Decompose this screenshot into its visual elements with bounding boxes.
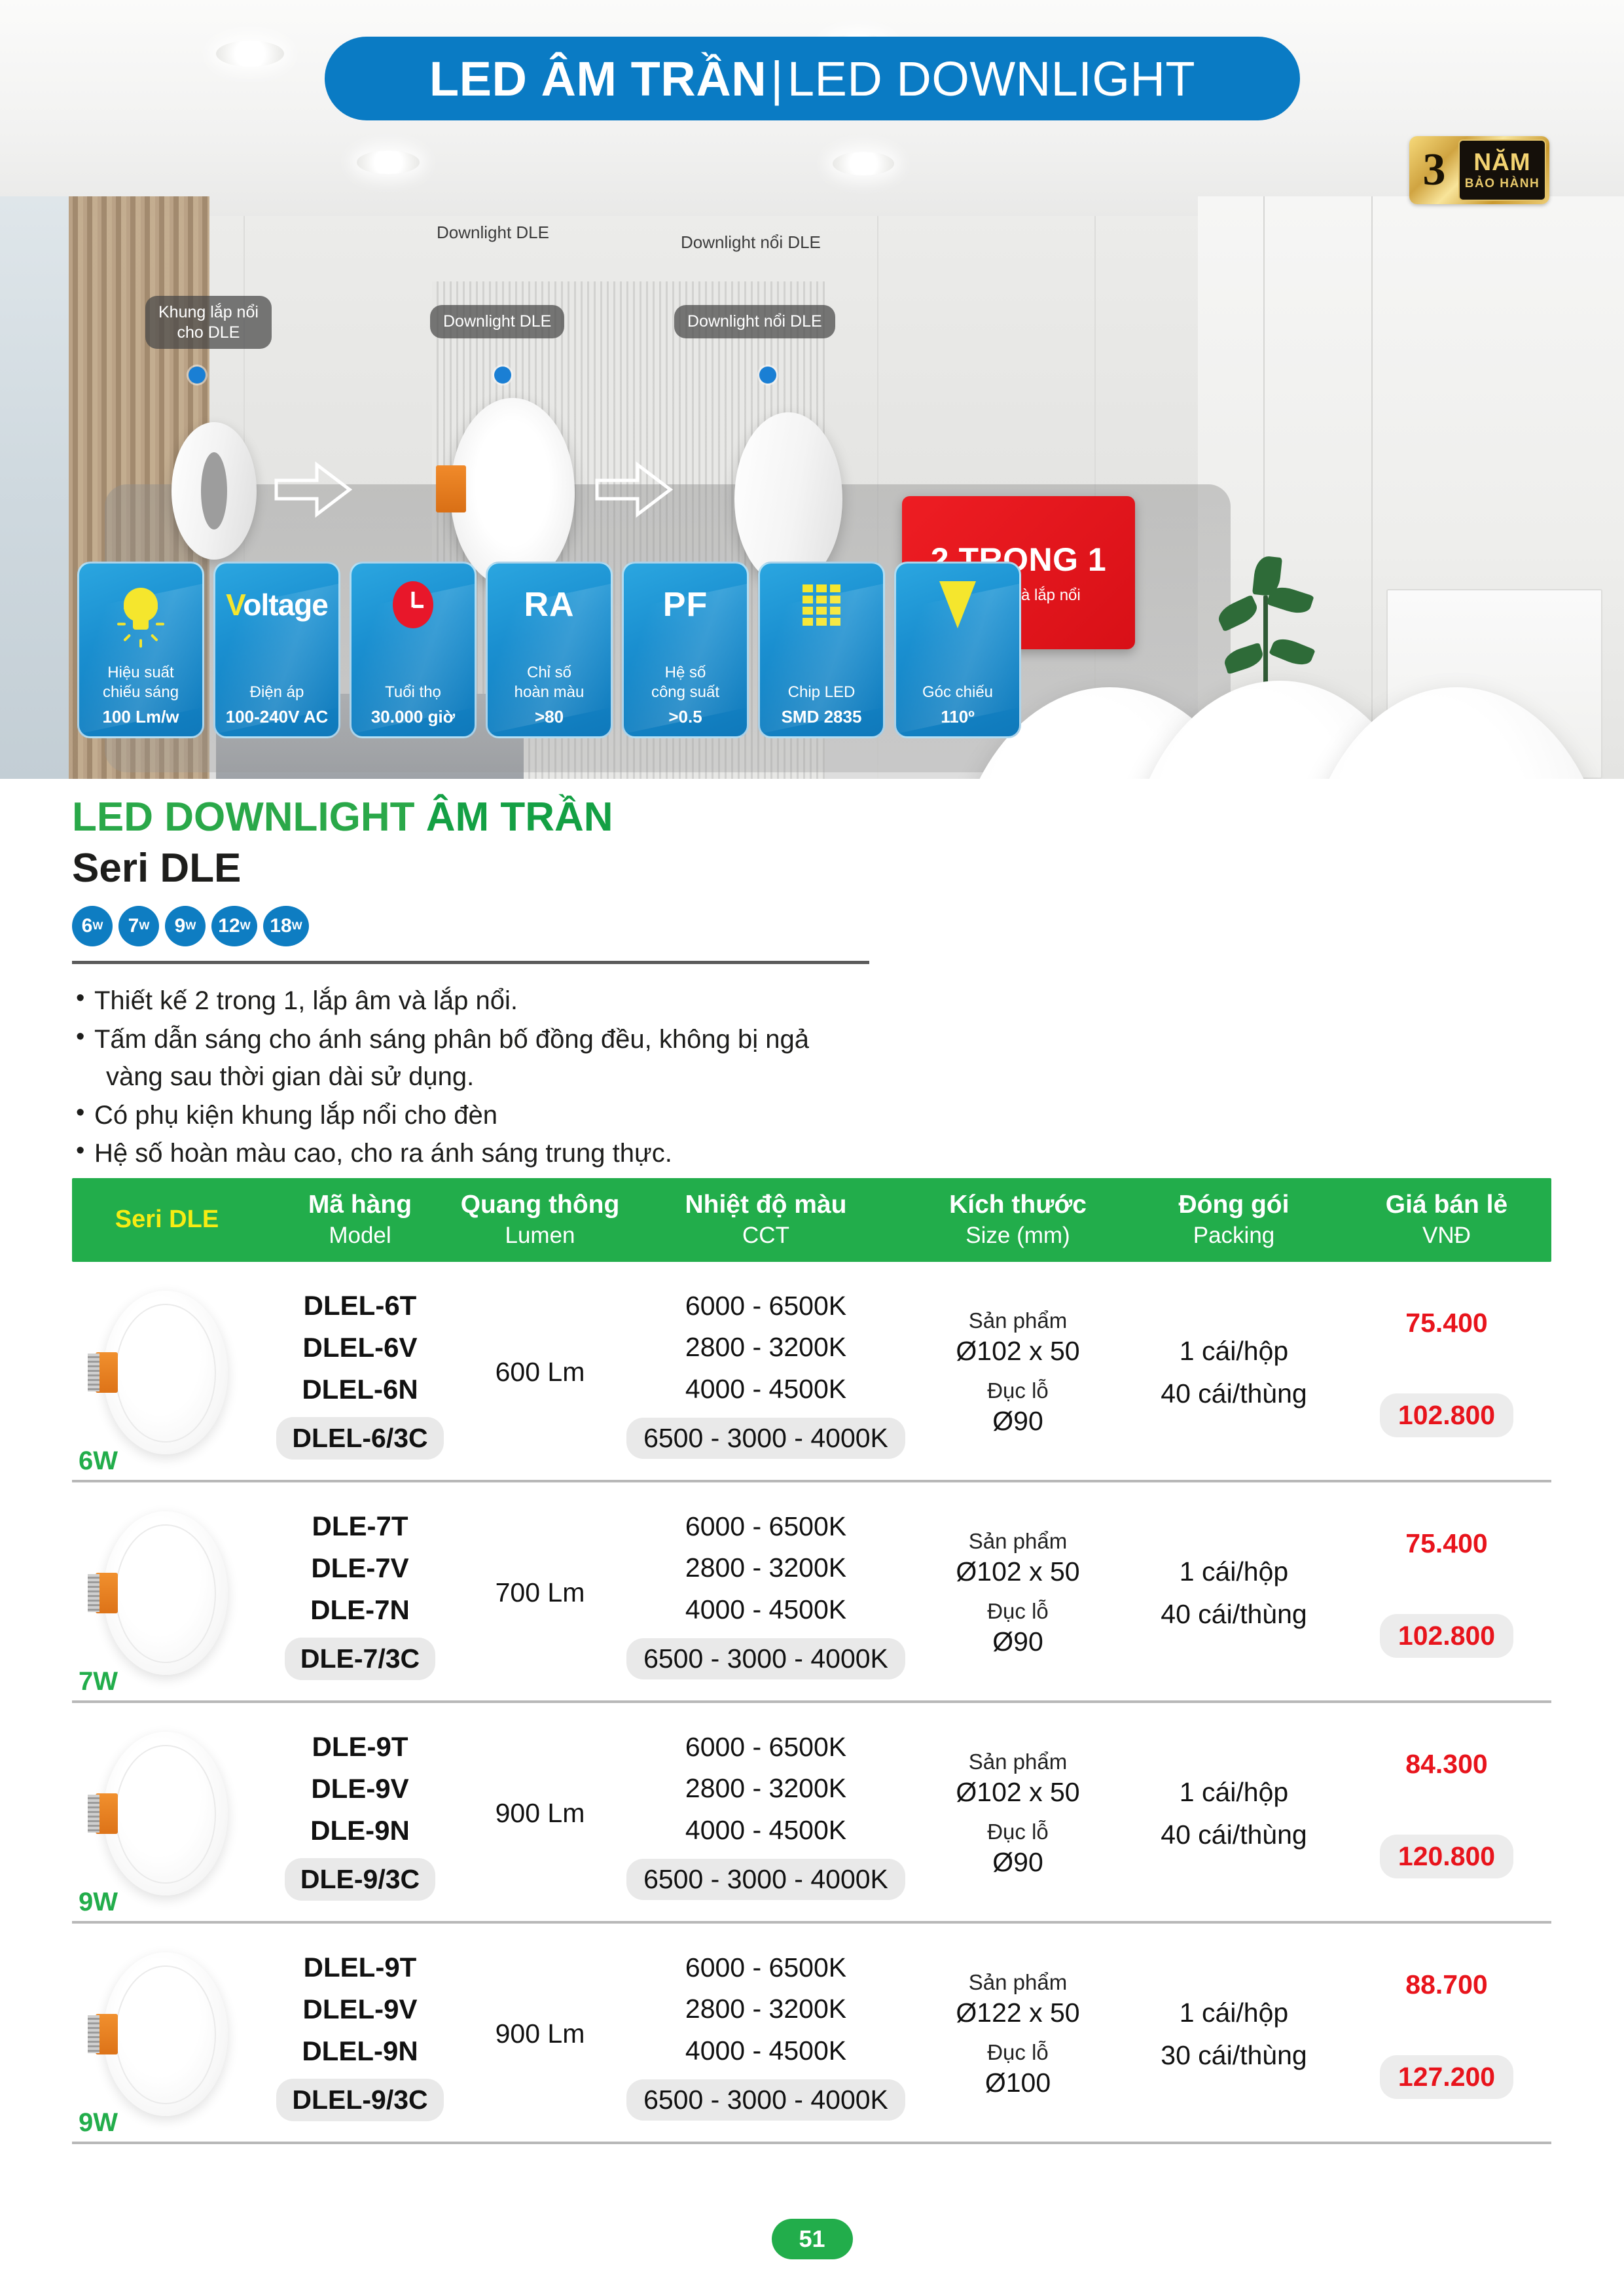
downlight-disc (103, 1291, 228, 1454)
cct-value: 4000 - 4500K (622, 2030, 910, 2072)
model-code-3c-badge: DLE-7/3C (285, 1638, 435, 1680)
spec-label-line1: Góc chiếu (922, 683, 993, 701)
table-row: 7W DLE-7T DLE-7V DLE-7N DLE-7/3C 700 Lm … (72, 1482, 1551, 1703)
wattage-value: 18 (270, 915, 291, 937)
column-header-title: Nhiệt độ màu (622, 1191, 910, 1219)
wattage-badge-7w: 7W (118, 906, 159, 946)
row-price-cell: 75.400 102.800 (1342, 1308, 1551, 1437)
marker-dot-1 (189, 367, 206, 384)
callout-line1: Khung lắp nổi (158, 303, 259, 321)
marker-dot-3 (759, 367, 776, 384)
price-3c-badge: 120.800 (1380, 1835, 1513, 1878)
wattage-badge-6w: 6W (72, 906, 113, 946)
column-header-title: Đóng gói (1126, 1191, 1342, 1219)
spring-clip (436, 465, 466, 512)
wattage-value: 9 (175, 915, 186, 937)
model-code: DLEL-6N (262, 1369, 458, 1410)
price-3c-badge: 102.800 (1380, 1393, 1513, 1437)
wattage-badge-12w: 12W (211, 906, 257, 946)
row-product-image (85, 1505, 249, 1681)
list-item: Có phụ kiện khung lắp nổi cho đèn (72, 1097, 923, 1134)
row-size-cell: Sản phẩm Ø102 x 50 Đục lỗ Ø90 (910, 1308, 1126, 1437)
wattage-unit: W (139, 920, 149, 933)
column-header-price: Giá bán lẻ VNĐ (1342, 1191, 1551, 1249)
page-number-badge: 51 (772, 2219, 853, 2259)
row-models-cell: DLEL-6T DLEL-6V DLEL-6N DLEL-6/3C (262, 1285, 458, 1459)
row-product-cell: 6W (72, 1284, 262, 1461)
packing-per-carton: 40 cái/thùng (1126, 1814, 1342, 1856)
spec-card-power-factor: PF Hệ số công suất >0.5 (622, 562, 749, 738)
product-spec-table: Seri DLE Mã hàng Model Quang thông Lumen… (72, 1178, 1551, 2144)
bulb-rays (111, 575, 171, 635)
size-value-product: Ø102 x 50 (910, 1556, 1126, 1587)
row-packing-cell: 1 cái/hộp 40 cái/thùng (1126, 1551, 1342, 1636)
wattage-value: 12 (218, 915, 240, 937)
size-label-cutout: Đục lỗ (910, 2040, 1126, 2065)
row-packing-cell: 1 cái/hộp 40 cái/thùng (1126, 1330, 1342, 1415)
row-wattage-badge: 9W (79, 2108, 118, 2138)
row-cct-cell: 6000 - 6500K 2800 - 3200K 4000 - 4500K 6… (622, 1506, 910, 1680)
spec-label-line1: Chỉ số (527, 664, 571, 681)
lumen-value: 900 Lm (458, 1798, 622, 1829)
column-header-subtitle: Size (mm) (910, 1223, 1126, 1249)
catalog-page: Downlight DLE Downlight nổi DLE Khung lắ… (0, 0, 1624, 2296)
spec-card-lifetime: Tuổi thọ 30.000 giờ (350, 562, 477, 738)
warranty-box: NĂM BẢO HÀNH (1458, 139, 1546, 201)
row-wattage-badge: 7W (79, 1667, 118, 1696)
lumen-value: 900 Lm (458, 2018, 622, 2049)
row-size-cell: Sản phẩm Ø102 x 50 Đục lỗ Ø90 (910, 1529, 1126, 1657)
spec-label: Điện áp (250, 683, 304, 702)
row-models-cell: DLE-9T DLE-9V DLE-9N DLE-9/3C (262, 1726, 458, 1900)
page-title-banner: LED ÂM TRẦN|LED DOWNLIGHT (325, 37, 1300, 120)
cct-value: 4000 - 4500K (622, 1589, 910, 1631)
plant-leaf (1269, 634, 1315, 670)
spring-coil-icon (88, 1574, 99, 1612)
product-title-b: ÂM TRẦN (426, 795, 613, 840)
spec-label-line2: chiếu sáng (103, 683, 179, 701)
column-header-title: Kích thước (910, 1191, 1126, 1219)
column-header-packing: Đóng gói Packing (1126, 1191, 1342, 1249)
bullet-text-cont: vàng sau thời gian dài sử dụng. (94, 1058, 923, 1096)
ra-glyph: RA (524, 585, 574, 624)
table-row: 6W DLEL-6T DLEL-6V DLEL-6N DLEL-6/3C 600… (72, 1262, 1551, 1482)
beam-glyph (939, 581, 976, 628)
spec-card-chip-led: Chip LED SMD 2835 (758, 562, 885, 738)
bullet-text: Tấm dẫn sáng cho ánh sáng phân bố đồng đ… (94, 1025, 809, 1054)
cct-value: 2800 - 3200K (622, 1547, 910, 1589)
spec-label: Góc chiếu (922, 683, 993, 702)
model-code: DLEL-6V (262, 1327, 458, 1369)
plant-leaf (1222, 643, 1266, 675)
recessed-downlight-product (450, 398, 575, 588)
wattage-badge-18w: 18W (263, 906, 309, 946)
callout-downlight-noi-dle: Downlight nổi DLE (674, 305, 835, 338)
price-standard: 75.400 (1342, 1528, 1551, 1559)
size-label-product: Sản phẩm (910, 1308, 1126, 1333)
price-3c-badge: 102.800 (1380, 1614, 1513, 1658)
column-header-size: Kích thước Size (mm) (910, 1191, 1126, 1249)
spec-card-voltage: Voltage Điện áp 100-240V AC (213, 562, 340, 738)
model-code: DLEL-6T (262, 1285, 458, 1327)
spec-label: Hệ số công suất (651, 663, 719, 702)
spec-value: >80 (535, 707, 564, 727)
lumen-value: 700 Lm (458, 1577, 622, 1608)
spec-label-line1: Tuổi thọ (385, 683, 441, 701)
size-label-product: Sản phẩm (910, 1749, 1126, 1774)
cct-3c-badge: 6500 - 3000 - 4000K (626, 1638, 905, 1679)
wattage-unit: W (292, 920, 302, 933)
surface-downlight-product (734, 412, 842, 586)
spec-value: SMD 2835 (782, 707, 862, 727)
size-value-cutout: Ø90 (910, 1406, 1126, 1437)
packing-per-box: 1 cái/hộp (1126, 1330, 1342, 1372)
feature-bullet-list: Thiết kế 2 trong 1, lắp âm và lắp nổi. T… (72, 982, 923, 1172)
cct-3c-badge: 6500 - 3000 - 4000K (626, 1859, 905, 1900)
spec-label-line1: Chip LED (788, 683, 856, 701)
bullet-text: Có phụ kiện khung lắp nổi cho đèn (94, 1101, 497, 1130)
ceiling-light-3 (357, 151, 420, 174)
wattage-badge-9w: 9W (165, 906, 206, 946)
row-packing-cell: 1 cái/hộp 30 cái/thùng (1126, 1992, 1342, 2077)
row-product-cell: 9W (72, 1725, 262, 1902)
row-price-cell: 88.700 127.200 (1342, 1969, 1551, 2099)
cct-3c-badge: 6500 - 3000 - 4000K (626, 2079, 905, 2121)
spec-label-line1: Điện áp (250, 683, 304, 701)
wattage-unit: W (92, 920, 103, 933)
product-info-block: LED DOWNLIGHT ÂM TRẦN Seri DLE 6W 7W 9W … (72, 795, 923, 1174)
price-3c-badge: 127.200 (1380, 2055, 1513, 2099)
cct-value: 6000 - 6500K (622, 1727, 910, 1768)
model-code-3c-badge: DLEL-9/3C (276, 2079, 443, 2121)
column-header-subtitle: Model (262, 1223, 458, 1249)
voltage-glyph: Voltage (226, 587, 328, 622)
column-header-subtitle: Packing (1126, 1223, 1342, 1249)
pf-icon: PF (663, 578, 708, 632)
clock-icon (393, 578, 433, 632)
size-value-product: Ø102 x 50 (910, 1777, 1126, 1808)
model-code-3c-badge: DLE-9/3C (285, 1858, 435, 1901)
spec-value: >0.5 (668, 707, 702, 727)
ra-icon: RA (524, 578, 574, 632)
list-item: Thiết kế 2 trong 1, lắp âm và lắp nổi. (72, 982, 923, 1020)
packing-per-carton: 40 cái/thùng (1126, 1372, 1342, 1415)
row-wattage-badge: 9W (79, 1888, 118, 1917)
spec-card-beam-angle: Góc chiếu 110º (894, 562, 1021, 738)
warranty-badge: 3 NĂM BẢO HÀNH (1409, 136, 1549, 204)
cct-value: 6000 - 6500K (622, 1947, 910, 1989)
size-label-cutout: Đục lỗ (910, 1378, 1126, 1403)
lumen-value: 600 Lm (458, 1357, 622, 1388)
row-wattage-badge: 6W (79, 1446, 118, 1476)
cct-3c-badge: 6500 - 3000 - 4000K (626, 1418, 905, 1459)
row-product-image (85, 1725, 249, 1902)
cct-value: 4000 - 4500K (622, 1369, 910, 1410)
size-value-cutout: Ø90 (910, 1847, 1126, 1878)
column-header-subtitle: CCT (622, 1223, 910, 1249)
model-code: DLE-7N (262, 1589, 458, 1631)
row-price-cell: 75.400 102.800 (1342, 1528, 1551, 1658)
size-label-cutout: Đục lỗ (910, 1820, 1126, 1844)
column-header-cct: Nhiệt độ màu CCT (622, 1191, 910, 1249)
column-header-title: Giá bán lẻ (1342, 1191, 1551, 1219)
spec-label: Tuổi thọ (385, 683, 441, 702)
callout-khung-lap-noi: Khung lắp nổi cho DLE (145, 296, 272, 349)
row-product-image (85, 1946, 249, 2123)
packing-per-box: 1 cái/hộp (1126, 1551, 1342, 1593)
spring-coil-icon (88, 1354, 99, 1391)
pf-glyph: PF (663, 585, 708, 624)
clock-glyph (393, 581, 433, 628)
page-title-vi: LED ÂM TRẦN (429, 52, 767, 106)
model-code: DLE-9V (262, 1768, 458, 1810)
warranty-unit: NĂM (1473, 150, 1530, 174)
product-series-title: Seri DLE (72, 845, 923, 891)
lead-label-downlight-dle: Downlight DLE (437, 223, 549, 243)
column-header-model: Mã hàng Model (262, 1191, 458, 1249)
row-product-cell: 9W (72, 1946, 262, 2123)
chip-icon (803, 578, 840, 632)
bulb-icon (124, 578, 158, 632)
warranty-years: 3 (1413, 149, 1456, 191)
bullet-text: Thiết kế 2 trong 1, lắp âm và lắp nổi. (94, 986, 518, 1015)
size-label-product: Sản phẩm (910, 1529, 1126, 1554)
spring-coil-icon (88, 1795, 99, 1833)
column-header-title: Quang thông (458, 1191, 622, 1219)
hero-photo: Downlight DLE Downlight nổi DLE Khung lắ… (0, 0, 1624, 779)
row-packing-cell: 1 cái/hộp 40 cái/thùng (1126, 1771, 1342, 1856)
spec-value: 30.000 giờ (371, 707, 455, 727)
section-divider (72, 961, 869, 964)
product-title-a: LED DOWNLIGHT (72, 795, 426, 840)
spec-label: Chỉ số hoàn màu (514, 663, 585, 702)
voltage-icon: Voltage (226, 578, 328, 632)
row-lumen-cell: 600 Lm (458, 1357, 622, 1388)
spec-label-line2: hoàn màu (514, 683, 585, 701)
spec-label-line2: công suất (651, 683, 719, 701)
plant-leaf (1215, 594, 1261, 632)
table-header-row: Seri DLE Mã hàng Model Quang thông Lumen… (72, 1178, 1551, 1262)
model-code: DLE-7T (262, 1505, 458, 1547)
spec-label: Hiệu suất chiếu sáng (103, 663, 179, 702)
downlight-disc (103, 1732, 228, 1895)
size-value-cutout: Ø100 (910, 2068, 1126, 2098)
lead-label-downlight-noi-dle: Downlight nổi DLE (681, 232, 821, 253)
cct-value: 2800 - 3200K (622, 1327, 910, 1369)
column-header-subtitle: VNĐ (1342, 1223, 1551, 1249)
column-header-seri: Seri DLE (72, 1206, 262, 1233)
title-separator: | (767, 52, 787, 106)
column-header-subtitle: Lumen (458, 1223, 622, 1249)
price-standard: 84.300 (1342, 1749, 1551, 1780)
spec-card-cri: RA Chỉ số hoàn màu >80 (486, 562, 613, 738)
table-row: 9W DLE-9T DLE-9V DLE-9N DLE-9/3C 900 Lm … (72, 1703, 1551, 1924)
beam-icon (939, 578, 976, 632)
size-value-product: Ø122 x 50 (910, 1998, 1126, 2028)
spec-card-luminous-efficacy: Hiệu suất chiếu sáng 100 Lm/w (77, 562, 204, 738)
ceiling-light-4 (833, 152, 894, 175)
spec-value: 110º (941, 707, 974, 727)
packing-per-carton: 40 cái/thùng (1126, 1593, 1342, 1636)
price-standard: 75.400 (1342, 1308, 1551, 1338)
price-standard: 88.700 (1342, 1969, 1551, 2000)
row-lumen-cell: 900 Lm (458, 1798, 622, 1829)
wattage-unit: W (240, 920, 251, 933)
warranty-text: BẢO HÀNH (1465, 177, 1540, 191)
column-header-title: Mã hàng (262, 1191, 458, 1219)
wattage-value: 6 (82, 915, 93, 937)
size-label-cutout: Đục lỗ (910, 1599, 1126, 1624)
bulb-glyph (124, 588, 158, 622)
product-title-line1: LED DOWNLIGHT ÂM TRẦN (72, 795, 923, 840)
spec-label-line1: Hiệu suất (107, 664, 173, 681)
wattage-value: 7 (128, 915, 139, 937)
page-title-en: LED DOWNLIGHT (787, 52, 1195, 106)
row-cct-cell: 6000 - 6500K 2800 - 3200K 4000 - 4500K 6… (622, 1727, 910, 1901)
model-code: DLE-9T (262, 1726, 458, 1768)
window (0, 196, 69, 779)
wattage-badges: 6W 7W 9W 12W 18W (72, 906, 923, 946)
row-price-cell: 84.300 120.800 (1342, 1749, 1551, 1878)
column-header-lumen: Quang thông Lumen (458, 1191, 622, 1249)
list-item: Tấm dẫn sáng cho ánh sáng phân bố đồng đ… (72, 1021, 923, 1096)
cct-value: 6000 - 6500K (622, 1285, 910, 1327)
flow-arrow-2 (594, 458, 673, 521)
cct-value: 4000 - 4500K (622, 1810, 910, 1852)
size-label-product: Sản phẩm (910, 1970, 1126, 1995)
row-size-cell: Sản phẩm Ø122 x 50 Đục lỗ Ø100 (910, 1970, 1126, 2098)
model-code-3c-badge: DLEL-6/3C (276, 1417, 443, 1460)
spring-coil-icon (88, 2015, 99, 2053)
packing-per-box: 1 cái/hộp (1126, 1771, 1342, 1814)
spec-label-line1: Hệ số (665, 664, 706, 681)
row-models-cell: DLE-7T DLE-7V DLE-7N DLE-7/3C (262, 1505, 458, 1679)
downlight-disc (103, 1511, 228, 1675)
column-header-title: Seri DLE (72, 1206, 262, 1233)
ceiling-light-1 (216, 41, 284, 67)
cct-value: 6000 - 6500K (622, 1506, 910, 1548)
row-lumen-cell: 700 Lm (458, 1577, 622, 1608)
model-code: DLE-9N (262, 1810, 458, 1852)
callout-downlight-dle: Downlight DLE (430, 305, 564, 338)
cct-value: 2800 - 3200K (622, 1768, 910, 1810)
size-value-product: Ø102 x 50 (910, 1336, 1126, 1367)
model-code: DLEL-9N (262, 2030, 458, 2072)
spec-cards: Hiệu suất chiếu sáng 100 Lm/w Voltage Đi… (77, 562, 1021, 738)
row-size-cell: Sản phẩm Ø102 x 50 Đục lỗ Ø90 (910, 1749, 1126, 1878)
row-product-cell: 7W (72, 1505, 262, 1681)
model-code: DLEL-9V (262, 1988, 458, 2030)
packing-per-box: 1 cái/hộp (1126, 1992, 1342, 2034)
spec-value: 100-240V AC (226, 707, 329, 727)
list-item: Hệ số hoàn màu cao, cho ra ánh sáng trun… (72, 1135, 923, 1172)
spec-value: 100 Lm/w (102, 707, 179, 727)
table-row: 9W DLEL-9T DLEL-9V DLEL-9N DLEL-9/3C 900… (72, 1924, 1551, 2144)
size-value-cutout: Ø90 (910, 1626, 1126, 1657)
flow-arrow-1 (274, 458, 352, 521)
model-code: DLEL-9T (262, 1946, 458, 1988)
row-lumen-cell: 900 Lm (458, 2018, 622, 2049)
cct-value: 2800 - 3200K (622, 1988, 910, 2030)
row-divider (72, 2142, 1551, 2144)
downlight-disc (103, 1952, 228, 2116)
model-code: DLE-7V (262, 1547, 458, 1589)
row-models-cell: DLEL-9T DLEL-9V DLEL-9N DLEL-9/3C (262, 1946, 458, 2121)
bullet-text: Hệ số hoàn màu cao, cho ra ánh sáng trun… (94, 1139, 672, 1168)
spec-label: Chip LED (788, 683, 856, 702)
row-cct-cell: 6000 - 6500K 2800 - 3200K 4000 - 4500K 6… (622, 1947, 910, 2121)
mounting-ring-product (171, 422, 257, 560)
row-product-image (85, 1284, 249, 1461)
callout-line2: cho DLE (177, 323, 240, 342)
row-cct-cell: 6000 - 6500K 2800 - 3200K 4000 - 4500K 6… (622, 1285, 910, 1460)
packing-per-carton: 30 cái/thùng (1126, 2034, 1342, 2077)
marker-dot-2 (494, 367, 511, 384)
chip-grid-glyph (803, 584, 840, 626)
wattage-unit: W (185, 920, 196, 933)
